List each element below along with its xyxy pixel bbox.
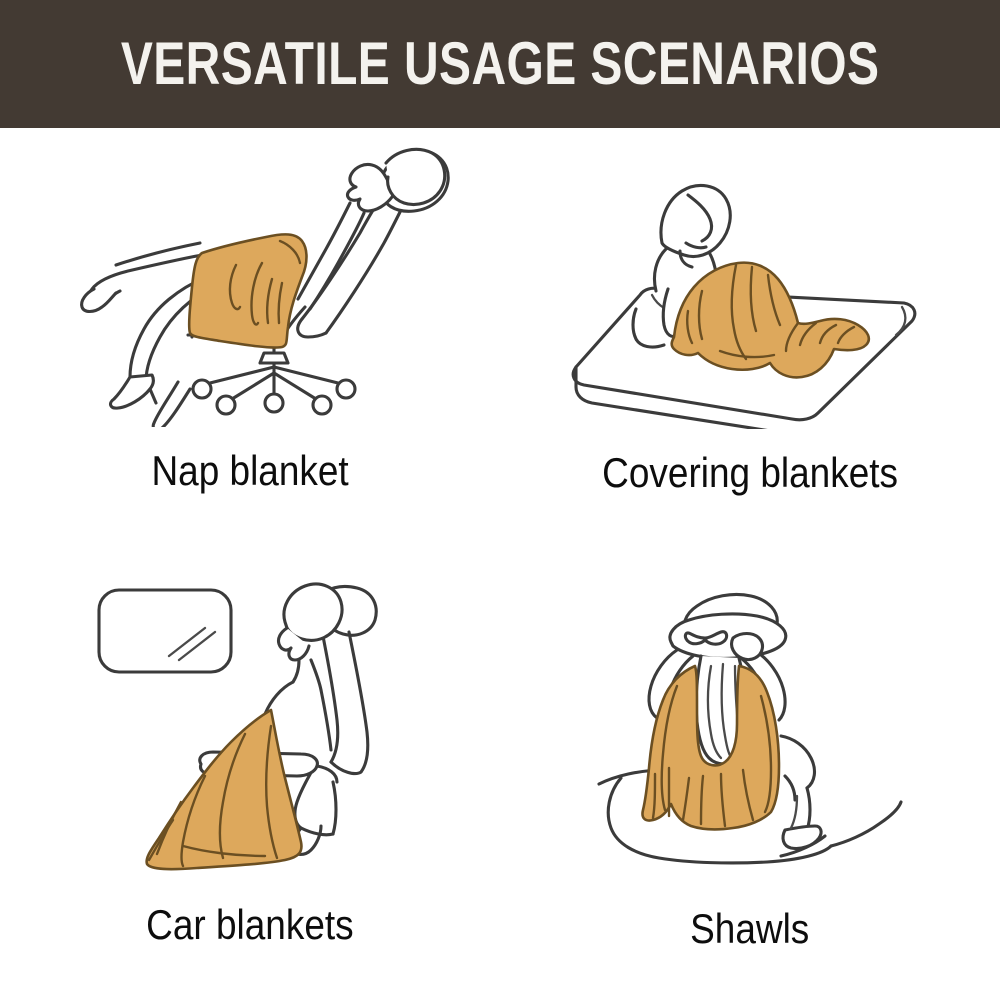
scenario-card-nap-blanket: Nap blanket <box>0 128 500 564</box>
scenario-label-car-blankets: Car blankets <box>146 904 353 946</box>
person-on-mattress-with-blanket-icon <box>540 139 960 429</box>
scenario-grid: Nap blanket <box>0 128 1000 1000</box>
scenario-card-car-blankets: Car blankets <box>0 564 500 1000</box>
woman-with-hat-wearing-shawl-icon <box>585 580 915 880</box>
nap-blanket-illustration <box>0 132 500 432</box>
woman-reclining-office-chair-icon <box>50 137 450 427</box>
header-banner: VERSATILE USAGE SCENARIOS <box>0 0 1000 128</box>
car-blankets-illustration <box>0 576 500 876</box>
scenario-label-shawls: Shawls <box>690 908 809 950</box>
sun-hat-icon <box>670 594 786 658</box>
infographic-page: VERSATILE USAGE SCENARIOS <box>0 0 1000 1000</box>
scenario-card-shawls: Shawls <box>500 564 1000 1000</box>
scenario-label-covering-blankets: Covering blankets <box>602 452 898 494</box>
covering-blankets-illustration <box>500 134 1000 434</box>
page-title: VERSATILE USAGE SCENARIOS <box>121 34 880 94</box>
shawls-illustration <box>500 580 1000 880</box>
scenario-card-covering-blankets: Covering blankets <box>500 128 1000 564</box>
person-in-car-seat-with-blanket-icon <box>85 576 415 876</box>
scenario-label-nap-blanket: Nap blanket <box>151 450 348 492</box>
car-window-icon <box>99 590 231 672</box>
